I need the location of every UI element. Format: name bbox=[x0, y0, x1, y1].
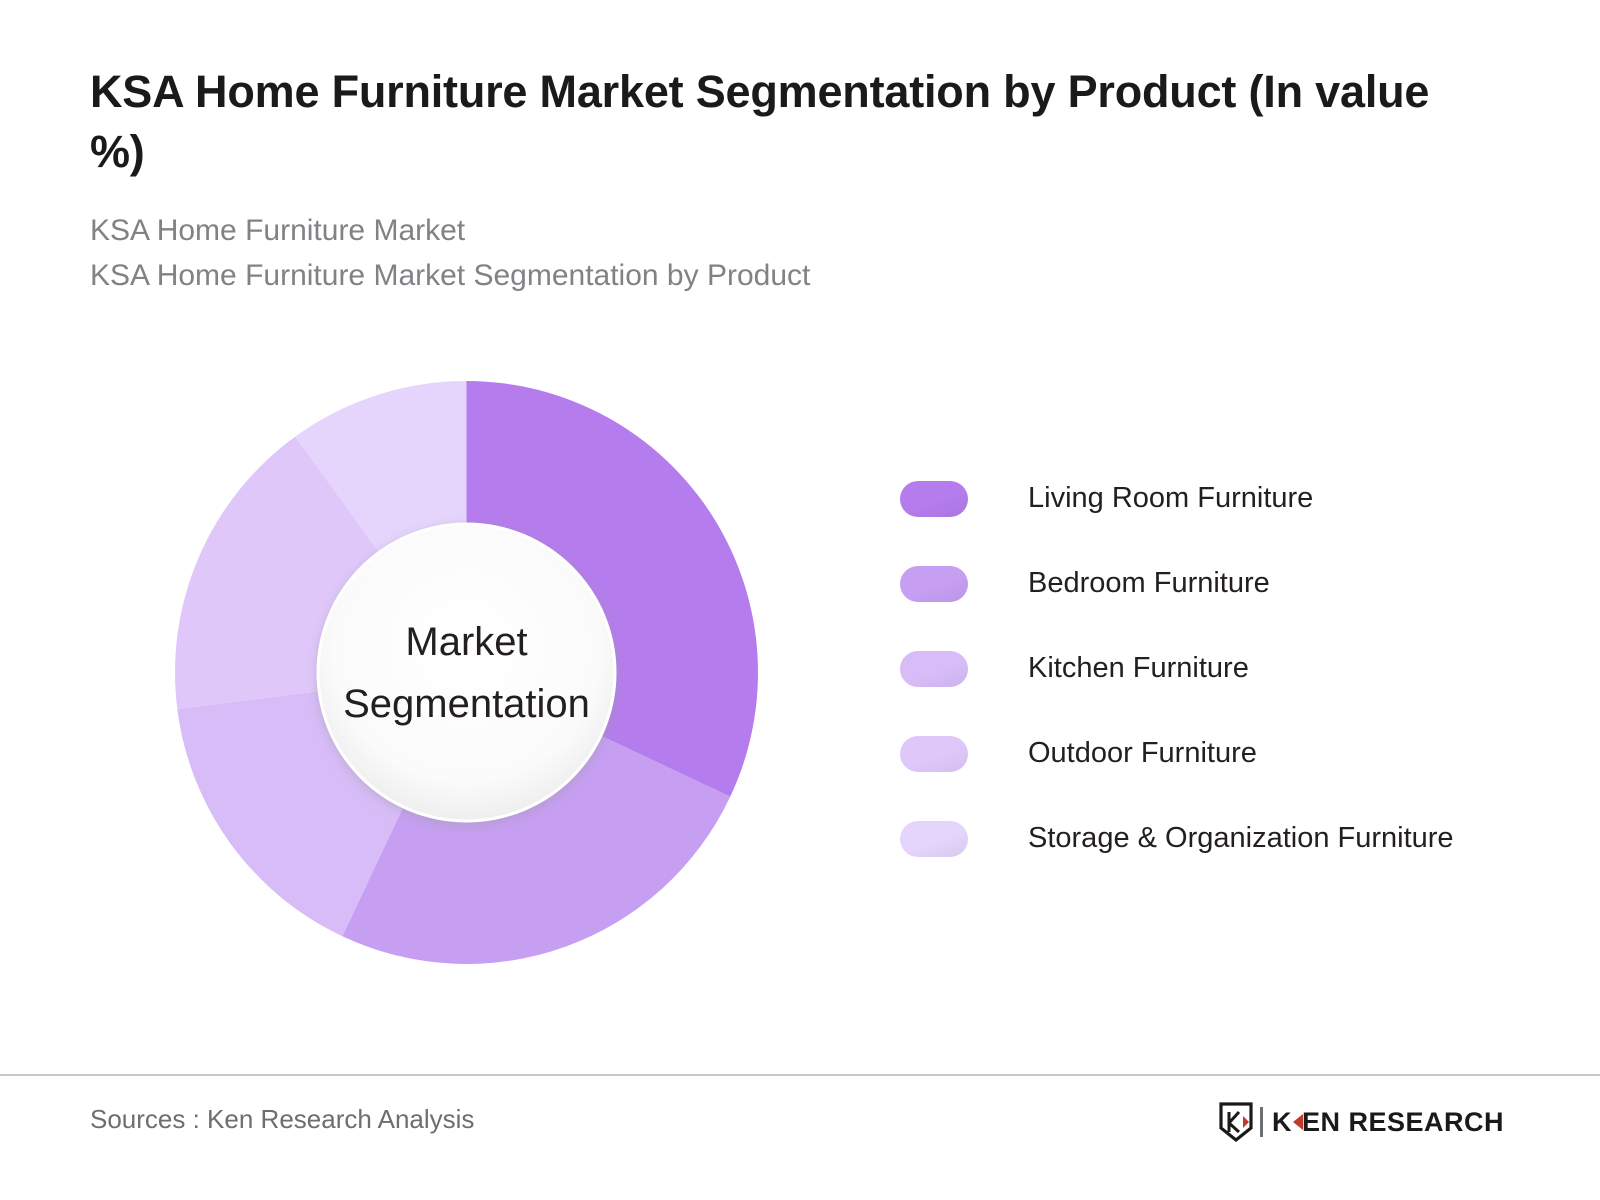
legend-item[interactable]: Living Room Furniture bbox=[900, 456, 1560, 541]
legend-label: Living Room Furniture bbox=[1028, 482, 1313, 515]
slide-root: KSA Home Furniture Market Segmentation b… bbox=[0, 0, 1600, 1200]
logo-divider bbox=[1260, 1107, 1263, 1137]
subtitle-secondary: KSA Home Furniture Market Segmentation b… bbox=[90, 253, 1510, 299]
legend-label: Bedroom Furniture bbox=[1028, 567, 1270, 600]
legend-item[interactable]: Bedroom Furniture bbox=[900, 541, 1560, 626]
donut-chart: Market Segmentation bbox=[175, 381, 758, 964]
shield-icon bbox=[1219, 1102, 1253, 1142]
legend-item[interactable]: Outdoor Furniture bbox=[900, 711, 1560, 796]
donut-svg bbox=[175, 381, 758, 964]
legend-label: Kitchen Furniture bbox=[1028, 652, 1249, 685]
header: KSA Home Furniture Market Segmentation b… bbox=[90, 62, 1510, 299]
legend-swatch-4 bbox=[900, 821, 968, 857]
legend-item[interactable]: Storage & Organization Furniture bbox=[900, 796, 1560, 881]
legend-swatch-2 bbox=[900, 651, 968, 687]
sources-text: Sources : Ken Research Analysis bbox=[90, 1104, 474, 1135]
legend-item[interactable]: Kitchen Furniture bbox=[900, 626, 1560, 711]
legend-swatch-3 bbox=[900, 736, 968, 772]
footer: Sources : Ken Research Analysis K EN RES… bbox=[0, 1076, 1600, 1200]
chart-legend: Living Room FurnitureBedroom FurnitureKi… bbox=[900, 456, 1560, 881]
subtitle-primary: KSA Home Furniture Market bbox=[90, 208, 1510, 254]
donut-hub bbox=[320, 526, 614, 820]
page-title: KSA Home Furniture Market Segmentation b… bbox=[90, 62, 1460, 182]
logo-wordmark-k: K bbox=[1272, 1109, 1292, 1136]
logo-wordmark-rest: EN RESEARCH bbox=[1302, 1109, 1504, 1136]
legend-swatch-1 bbox=[900, 566, 968, 602]
subtitle-block: KSA Home Furniture Market KSA Home Furni… bbox=[90, 208, 1510, 299]
legend-label: Outdoor Furniture bbox=[1028, 737, 1257, 770]
legend-swatch-0 bbox=[900, 481, 968, 517]
chart-area: Market Segmentation Living Room Furnitur… bbox=[0, 360, 1600, 1000]
legend-label: Storage & Organization Furniture bbox=[1028, 822, 1454, 855]
ken-research-logo: K EN RESEARCH bbox=[1219, 1100, 1504, 1144]
logo-wordmark: K EN RESEARCH bbox=[1272, 1109, 1504, 1136]
